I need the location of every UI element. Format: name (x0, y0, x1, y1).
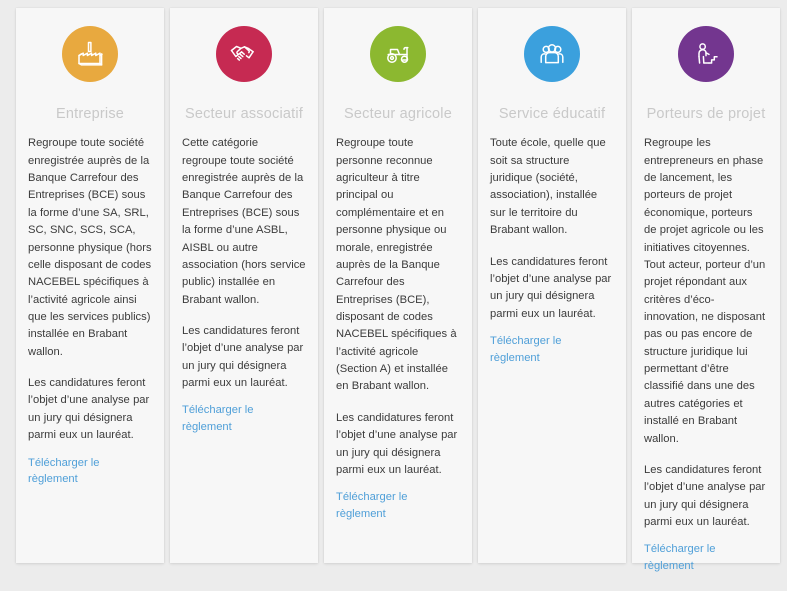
category-card-porteurs-de-projet[interactable]: Porteurs de projet Regroupe les entrepre… (632, 8, 780, 563)
card-spacer (182, 450, 306, 563)
card-paragraph: Cette catégorie regroupe toute société e… (182, 135, 306, 309)
category-cards-board: Entreprise Regroupe toute société enregi… (0, 0, 787, 577)
icon-container (490, 26, 614, 82)
category-card-service-educatif[interactable]: Service éducatif Toute école, quelle que… (478, 8, 626, 563)
icon-circle-entreprise (62, 26, 118, 82)
tractor-icon (381, 37, 415, 71)
icon-container (336, 26, 460, 82)
card-title: Service éducatif (490, 106, 614, 123)
card-paragraph: Les candidatures feront l’objet d’une an… (644, 462, 768, 531)
download-reglement-link[interactable]: Télécharger le règlement (490, 333, 614, 367)
icon-container (28, 26, 152, 82)
card-title: Secteur associatif (182, 106, 306, 123)
download-reglement-link[interactable]: Télécharger le règlement (28, 455, 152, 489)
category-card-entreprise[interactable]: Entreprise Regroupe toute société enregi… (16, 8, 164, 563)
card-title: Entreprise (28, 106, 152, 123)
factory-icon (73, 37, 107, 71)
card-paragraph: Les candidatures feront l’objet d’une an… (28, 375, 152, 444)
people-group-icon (535, 37, 569, 71)
card-paragraph: Les candidatures feront l’objet d’une an… (182, 323, 306, 392)
person-climbing-stairs-icon (689, 37, 723, 71)
card-paragraph: Toute école, quelle que soit sa structur… (490, 135, 614, 239)
category-card-secteur-agricole[interactable]: Secteur agricole Regroupe toute personne… (324, 8, 472, 563)
card-paragraph: Les candidatures feront l’objet d’une an… (336, 410, 460, 479)
card-paragraph: Regroupe toute personne reconnue agricul… (336, 135, 460, 395)
card-title: Secteur agricole (336, 106, 460, 123)
icon-circle-porteurs-de-projet (678, 26, 734, 82)
card-paragraph: Les candidatures feront l’objet d’une an… (490, 254, 614, 323)
card-paragraph: Regroupe les entrepreneurs en phase de l… (644, 135, 768, 447)
icon-circle-secteur-agricole (370, 26, 426, 82)
card-spacer (490, 381, 614, 563)
card-title: Porteurs de projet (644, 106, 768, 123)
icon-container (182, 26, 306, 82)
handshake-icon (227, 37, 261, 71)
card-paragraph: Regroupe toute société enregistrée auprè… (28, 135, 152, 361)
card-spacer (28, 502, 152, 563)
icon-container (644, 26, 768, 82)
category-card-secteur-associatif[interactable]: Secteur associatif Cette catégorie regro… (170, 8, 318, 563)
icon-circle-secteur-associatif (216, 26, 272, 82)
download-reglement-link[interactable]: Télécharger le règlement (644, 541, 768, 575)
card-spacer (336, 537, 460, 563)
icon-circle-service-educatif (524, 26, 580, 82)
download-reglement-link[interactable]: Télécharger le règlement (336, 489, 460, 523)
download-reglement-link[interactable]: Télécharger le règlement (182, 402, 306, 436)
